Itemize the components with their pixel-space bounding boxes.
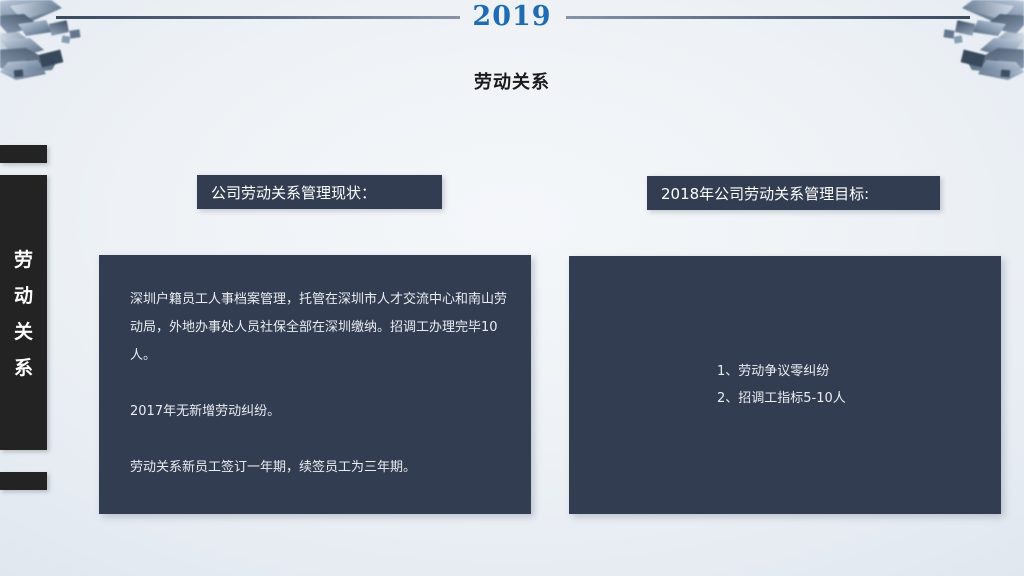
slide-canvas: 2019 [0,0,1024,576]
tab-chip-main[interactable] [0,175,47,450]
goal-item-2: 2、招调工指标5-10人 [717,385,846,412]
panel-goals: 1、劳动争议零纠纷 2、招调工指标5-10人 [569,256,1001,514]
panel-current-status-body: 深圳户籍员工人事档案管理，托管在深圳市人才交流中心和南山劳动局，外地办事处人员社… [130,286,511,482]
status-paragraph-1: 深圳户籍员工人事档案管理，托管在深圳市人才交流中心和南山劳动局，外地办事处人员社… [130,286,511,370]
status-paragraph-2: 2017年无新增劳动纠纷。 [130,398,511,426]
column-header-current-status: 公司劳动关系管理现状： [197,175,442,209]
tab-chip-top [0,145,47,163]
year-label: 2019 [0,0,1024,34]
panel-goals-body: 1、劳动争议零纠纷 2、招调工指标5-10人 [569,256,1001,514]
tab-chip-bottom [0,472,47,490]
status-paragraph-3: 劳动关系新员工签订一年期，续签员工为三年期。 [130,454,511,482]
goal-item-1: 1、劳动争议零纠纷 [717,358,829,385]
column-header-goals: 2018年公司劳动关系管理目标: [647,176,940,210]
panel-current-status: 深圳户籍员工人事档案管理，托管在深圳市人才交流中心和南山劳动局，外地办事处人员社… [99,255,531,514]
slide-title: 劳动关系 [0,68,1024,94]
